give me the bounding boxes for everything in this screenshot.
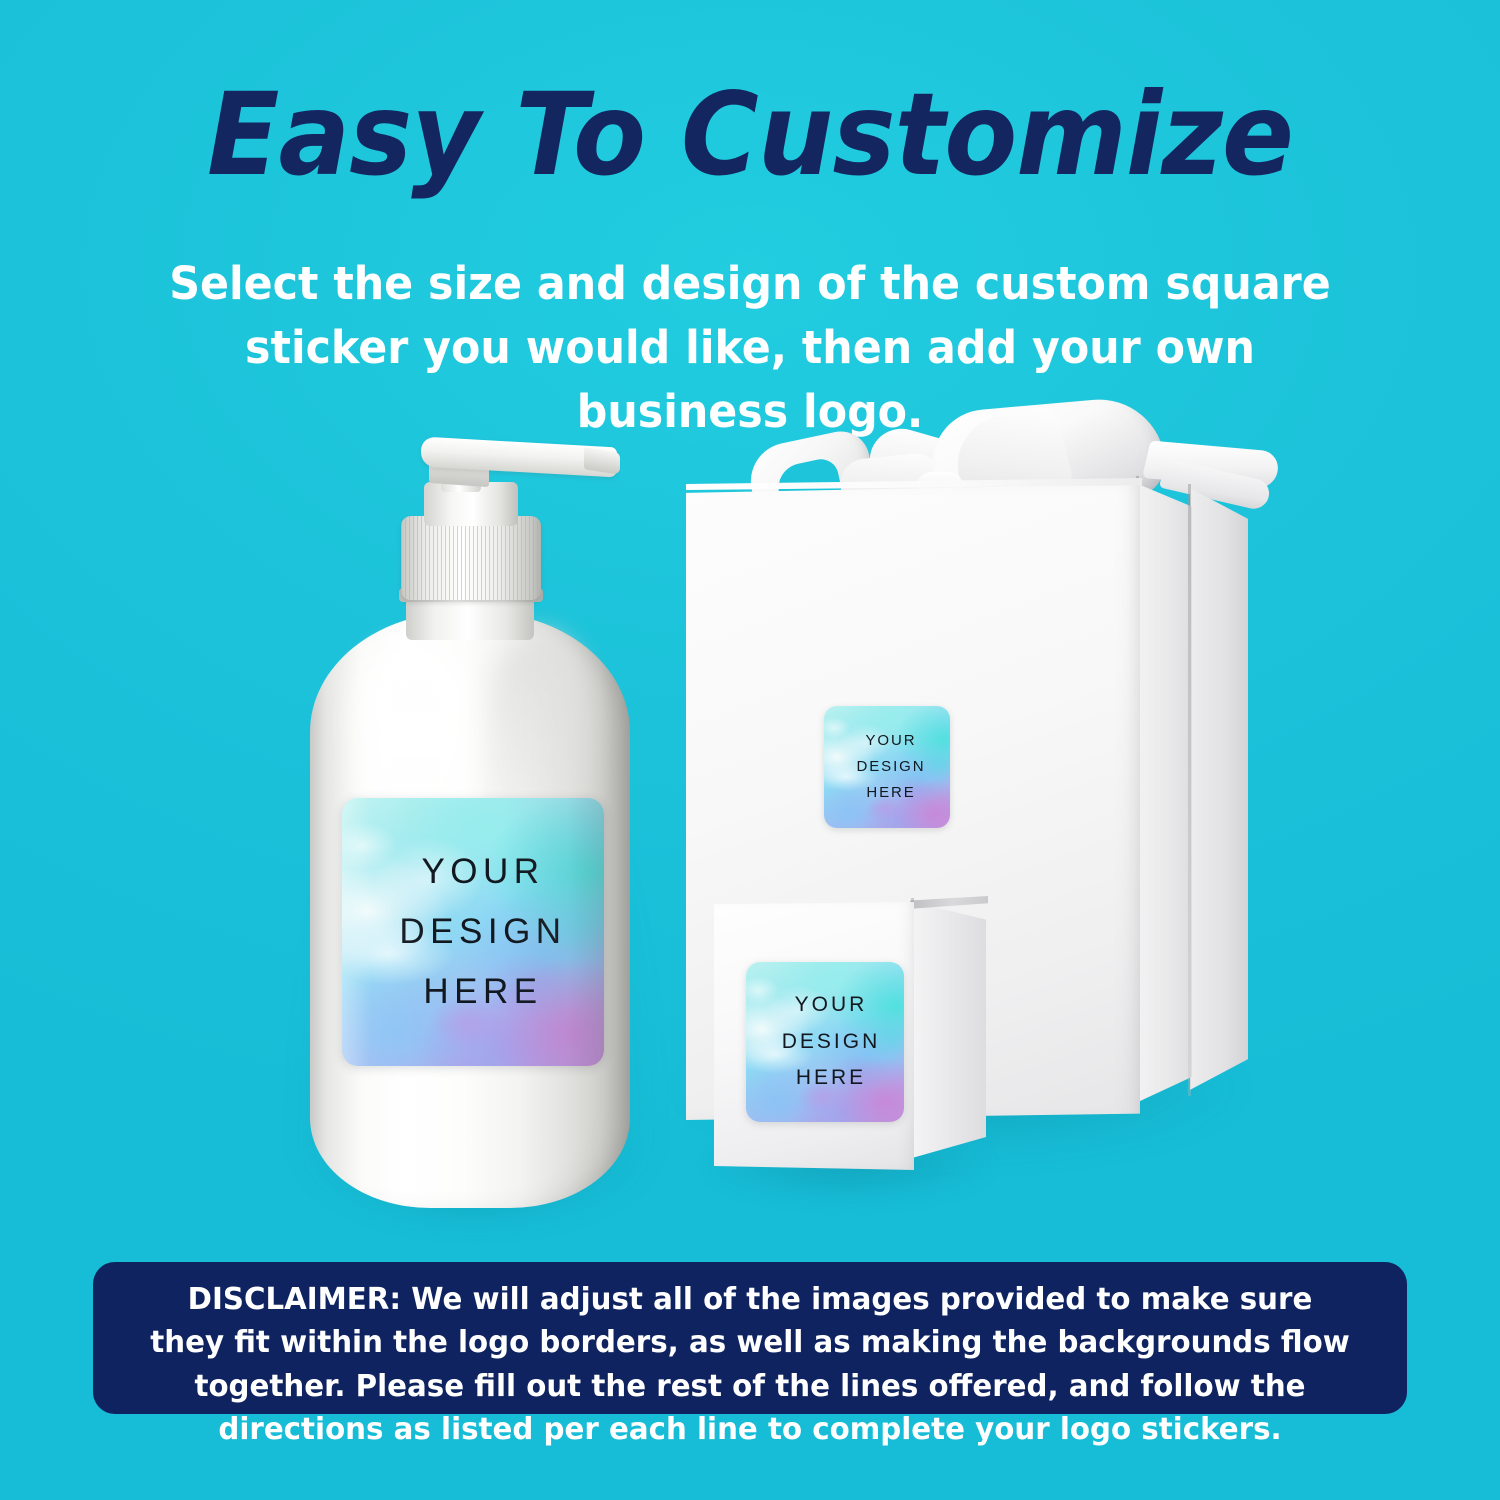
sticker-line-2: DESIGN — [399, 902, 566, 962]
sticker-line-1: YOUR — [866, 728, 917, 754]
gift-box-side-panel — [1138, 474, 1192, 1102]
sticker-line-1: YOUR — [421, 842, 544, 902]
small-box-sticker-text: YOUR DESIGN HERE — [746, 962, 904, 1122]
small-box-side-panel — [912, 896, 986, 1158]
sticker-line-2: DESIGN — [857, 754, 926, 780]
bottle-sticker-text: YOUR DESIGN HERE — [342, 798, 604, 1066]
disclaimer-text: DISCLAIMER: We will adjust all of the im… — [146, 1278, 1354, 1451]
gift-box-back-panel — [1190, 482, 1248, 1096]
sticker-line-2: DESIGN — [782, 1024, 881, 1061]
sticker-line-3: HERE — [866, 780, 915, 806]
sticker-line-3: HERE — [796, 1060, 866, 1097]
pump-ribbed-collar — [401, 516, 541, 600]
gift-box-sticker: YOUR DESIGN HERE — [824, 706, 950, 828]
bottle-sticker-label: YOUR DESIGN HERE — [342, 798, 604, 1066]
pump-bottle-mockup: YOUR DESIGN HERE — [296, 420, 656, 1220]
disclaimer-banner: DISCLAIMER: We will adjust all of the im… — [93, 1262, 1407, 1414]
promo-banner: Easy To Customize Select the size and de… — [0, 0, 1500, 1500]
gift-box-seam-back — [1188, 484, 1191, 1096]
sticker-line-1: YOUR — [795, 987, 868, 1024]
small-box-mockup: YOUR DESIGN HERE — [700, 890, 1000, 1200]
small-box-sticker: YOUR DESIGN HERE — [746, 962, 904, 1122]
gift-box-sticker-text: YOUR DESIGN HERE — [824, 706, 950, 828]
page-title: Easy To Customize — [53, 78, 1448, 192]
disclaimer-label: DISCLAIMER: — [188, 1282, 401, 1317]
sticker-line-3: HERE — [423, 962, 542, 1022]
product-mockup-scene: YOUR DESIGN HERE — [0, 400, 1500, 1230]
small-box-top-edge — [910, 896, 988, 910]
